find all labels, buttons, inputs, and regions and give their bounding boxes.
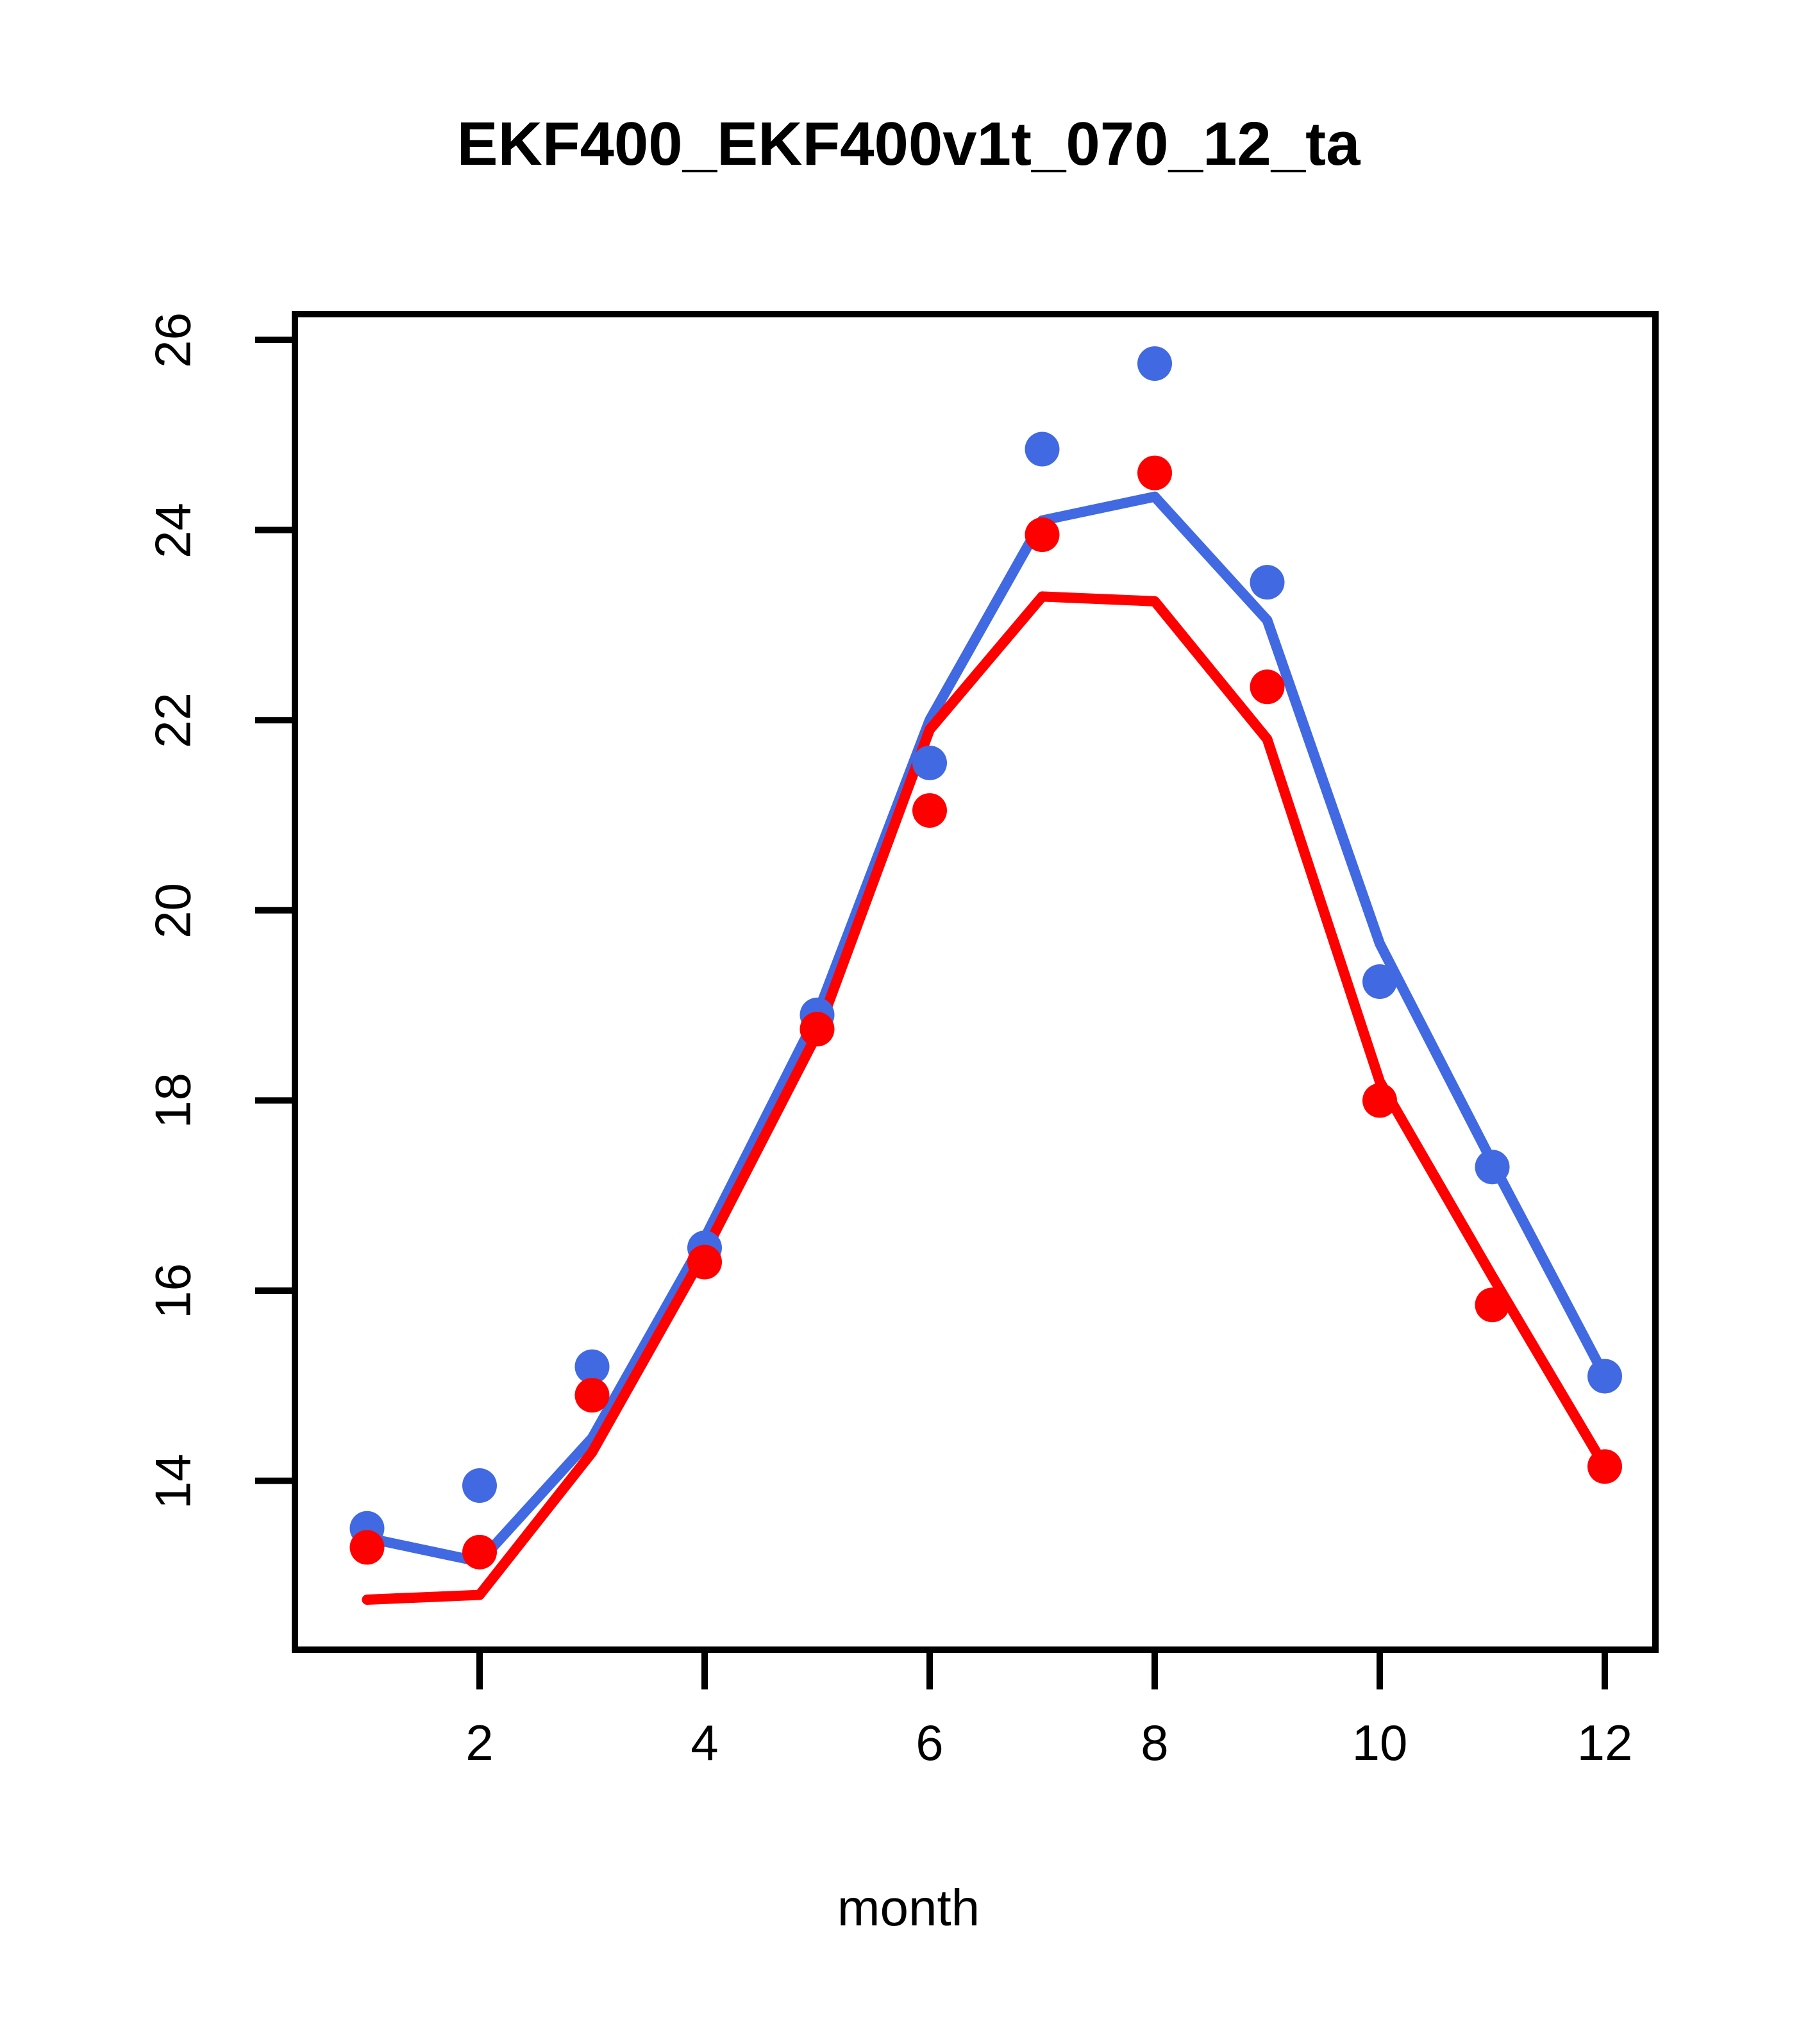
data-point-blue-points xyxy=(1137,346,1172,381)
data-point-red-points xyxy=(1137,456,1172,490)
data-point-red-points xyxy=(687,1245,722,1280)
x-tick-label: 12 xyxy=(1528,1714,1682,1772)
x-tick-label: 2 xyxy=(403,1714,557,1772)
data-point-red-points xyxy=(1025,517,1060,552)
data-point-red-points xyxy=(575,1378,610,1412)
x-axis-label: month xyxy=(0,1879,1817,1938)
data-point-red-points xyxy=(350,1530,385,1564)
y-tick-label: 24 xyxy=(144,466,203,594)
data-point-red-points xyxy=(1475,1287,1510,1322)
x-tick-label: 4 xyxy=(628,1714,782,1772)
data-point-red-points xyxy=(462,1535,497,1570)
chart-figure: EKF400_EKF400v1t_070_12_ta 1416182022242… xyxy=(0,0,1817,2044)
y-tick-label: 14 xyxy=(144,1417,203,1545)
data-point-blue-points xyxy=(1250,565,1285,599)
x-tick-label: 10 xyxy=(1303,1714,1457,1772)
x-tick-label: 6 xyxy=(853,1714,1007,1772)
y-tick-label: 16 xyxy=(144,1227,203,1355)
data-point-red-points xyxy=(1250,669,1285,704)
data-series xyxy=(350,346,1623,1600)
data-point-blue-points xyxy=(912,746,947,780)
y-tick-label: 18 xyxy=(144,1037,203,1165)
data-point-red-points xyxy=(800,1012,835,1046)
data-point-blue-points xyxy=(1587,1359,1622,1393)
plot-frame xyxy=(295,314,1655,1650)
data-point-red-points xyxy=(1362,1083,1397,1118)
data-point-blue-points xyxy=(1025,432,1060,467)
data-point-blue-points xyxy=(1362,964,1397,999)
y-tick-label: 22 xyxy=(144,657,203,785)
y-tick-label: 26 xyxy=(144,276,203,405)
series-line-red-line xyxy=(367,596,1605,1600)
y-tick-label: 20 xyxy=(144,846,203,975)
data-point-blue-points xyxy=(462,1468,497,1503)
axis-ticks xyxy=(255,340,1605,1689)
data-point-red-points xyxy=(912,793,947,828)
data-point-red-points xyxy=(1587,1449,1622,1484)
data-point-blue-points xyxy=(1475,1150,1510,1184)
plot-box xyxy=(295,314,1655,1650)
x-tick-label: 8 xyxy=(1078,1714,1232,1772)
